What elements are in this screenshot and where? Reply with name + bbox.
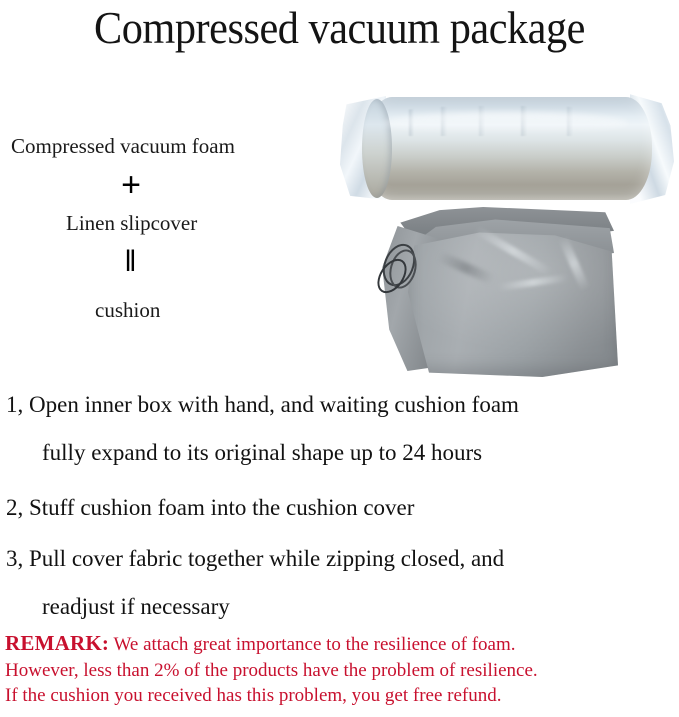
zipper-cord-icon [380, 241, 420, 297]
instruction-1-line-2: fully expand to its original shape up to… [42, 440, 482, 466]
foam-roll-photo [340, 92, 670, 202]
equation-term-slipcover: Linen slipcover [66, 211, 197, 235]
roll-highlight [384, 112, 628, 134]
instruction-1-line-1: 1, Open inner box with hand, and waiting… [6, 392, 519, 418]
page-title: Compressed vacuum package [20, 2, 658, 54]
slipcover-photo [378, 207, 628, 377]
product-info-card: Compressed vacuum package Compressed vac… [0, 0, 679, 717]
equals-icon: ‖ [0, 246, 262, 278]
remark-label: REMARK: [5, 631, 109, 655]
remark-text-line-1: We attach great importance to the resili… [113, 634, 515, 655]
remark-block: REMARK: We attach great importance to th… [5, 631, 677, 709]
instruction-3-line-2: readjust if necessary [42, 594, 230, 620]
instruction-2-line-1: 2, Stuff cushion foam into the cushion c… [6, 495, 414, 521]
remark-text-line-3: If the cushion you received has this pro… [5, 683, 677, 709]
plus-icon: + [0, 168, 262, 202]
instruction-3-line-1: 3, Pull cover fabric together while zipp… [6, 546, 504, 572]
equation-term-foam: Compressed vacuum foam [11, 134, 235, 158]
remark-text-line-2: However, less than 2% of the products ha… [5, 658, 677, 684]
equation-result-cushion: cushion [95, 298, 160, 322]
